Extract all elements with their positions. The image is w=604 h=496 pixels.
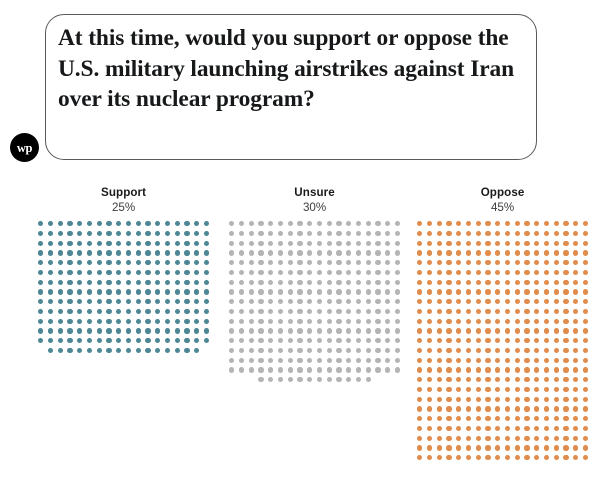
dot [395,319,400,324]
dot [544,445,549,450]
dot [249,289,254,294]
dot [427,221,432,226]
dot [515,231,520,236]
dot [356,289,361,294]
dot [239,221,244,226]
dot [194,270,199,275]
dot [194,280,199,285]
dot [116,241,121,246]
dot [417,455,422,460]
dot [48,280,53,285]
dot [278,260,283,265]
dot [204,338,209,343]
dot [583,348,588,353]
dot [67,299,72,304]
dot [346,309,351,314]
dot [249,328,254,333]
dot [495,241,500,246]
dot [346,231,351,236]
dot [126,309,131,314]
dot [116,280,121,285]
dot [336,270,341,275]
dot [48,348,53,353]
dot [385,221,390,226]
dot [395,328,400,333]
dot [165,319,170,324]
dot [155,299,160,304]
dot [126,289,131,294]
dot [417,338,422,343]
dot [268,299,273,304]
dot [268,348,273,353]
dot [534,299,539,304]
dot [427,387,432,392]
dot [126,299,131,304]
dot [126,270,131,275]
dot [385,280,390,285]
dot [456,299,461,304]
dot [229,289,234,294]
dot [583,416,588,421]
dot [184,280,189,285]
dot [505,289,510,294]
dot [485,289,490,294]
dot [456,289,461,294]
dot [268,270,273,275]
dot [524,309,529,314]
dot [573,397,578,402]
dot [476,445,481,450]
dot [184,299,189,304]
dot [515,328,520,333]
dot [48,289,53,294]
dot [583,231,588,236]
dot [427,260,432,265]
dot [38,270,43,275]
dot [476,250,481,255]
dot [515,250,520,255]
dot [175,241,180,246]
dot [175,338,180,343]
dot [268,231,273,236]
dot [346,280,351,285]
dot [106,280,111,285]
dot [346,338,351,343]
dot [366,309,371,314]
dot [204,270,209,275]
dot [505,416,510,421]
dot [476,328,481,333]
dot [395,221,400,226]
dot [317,221,322,226]
column-oppose: Oppose45% [417,186,588,460]
dot [427,299,432,304]
dot [524,221,529,226]
dot [87,250,92,255]
dot [563,416,568,421]
dot [573,358,578,363]
dot [446,231,451,236]
dot [184,241,189,246]
dot [327,289,332,294]
dot [288,289,293,294]
dot [544,241,549,246]
dot [136,250,141,255]
dot [395,299,400,304]
dot [297,328,302,333]
dot [485,299,490,304]
dot [534,358,539,363]
dot [485,436,490,441]
dot [524,406,529,411]
dot [456,260,461,265]
dot [563,221,568,226]
dot [346,367,351,372]
dot [204,328,209,333]
dot [297,319,302,324]
column-header-support: Support25% [38,186,209,215]
dot [67,260,72,265]
dot [297,358,302,363]
dot [249,231,254,236]
dot [505,280,510,285]
dot [515,358,520,363]
dot [505,436,510,441]
dot [67,270,72,275]
dot [136,299,141,304]
dot [87,299,92,304]
dot [204,221,209,226]
dot [395,250,400,255]
dot [544,455,549,460]
dot [563,455,568,460]
dot [356,377,361,382]
dot [466,309,471,314]
dot [116,260,121,265]
dot [375,328,380,333]
dot [534,436,539,441]
dot [437,280,442,285]
dot [249,241,254,246]
dot [175,328,180,333]
dot [194,241,199,246]
dot [544,250,549,255]
dot [417,319,422,324]
dot [204,289,209,294]
dot [515,319,520,324]
dot [87,260,92,265]
dot [437,299,442,304]
dot [327,270,332,275]
dot [515,436,520,441]
dot [366,260,371,265]
dot [38,319,43,324]
dot [327,260,332,265]
dot [307,367,312,372]
dot [336,319,341,324]
dot [106,309,111,314]
dot [327,221,332,226]
dot [229,231,234,236]
dot [278,289,283,294]
dot [336,358,341,363]
dot [106,221,111,226]
dot [446,348,451,353]
dot [48,221,53,226]
dot [77,348,82,353]
dot [427,348,432,353]
dot [97,338,102,343]
dot [524,377,529,382]
dot [485,387,490,392]
dot [327,250,332,255]
dot [67,221,72,226]
dot [155,338,160,343]
dot [446,436,451,441]
dot [194,319,199,324]
dot [437,367,442,372]
dot [288,270,293,275]
dot [77,280,82,285]
dot [446,367,451,372]
dot [366,367,371,372]
dot [563,377,568,382]
dot [395,338,400,343]
dot [417,270,422,275]
dot [515,397,520,402]
dot [534,406,539,411]
dot [336,280,341,285]
dot [175,231,180,236]
dot [58,280,63,285]
dot [466,397,471,402]
dot [505,250,510,255]
dot [437,416,442,421]
dot [524,250,529,255]
dot [356,280,361,285]
dot [106,299,111,304]
dot [77,260,82,265]
dot [476,416,481,421]
dot [297,367,302,372]
dot [495,309,500,314]
dot [485,348,490,353]
dot [136,231,141,236]
dot [136,319,141,324]
dot [456,328,461,333]
dot [515,338,520,343]
dot [268,221,273,226]
dot [375,250,380,255]
dot [417,260,422,265]
dot [437,397,442,402]
dot [583,270,588,275]
dot [229,241,234,246]
dot [437,436,442,441]
dot [239,299,244,304]
dot [288,348,293,353]
dot [573,416,578,421]
dot [515,348,520,353]
dot [466,299,471,304]
dot [165,221,170,226]
dot [456,250,461,255]
dot [495,338,500,343]
dot [356,348,361,353]
dot [116,319,121,324]
dot [427,250,432,255]
dot [136,280,141,285]
dot [446,397,451,402]
dot [573,455,578,460]
dot [427,445,432,450]
dot [288,221,293,226]
dot [48,319,53,324]
dot [446,416,451,421]
dot [58,221,63,226]
dot [258,328,263,333]
dot [456,445,461,450]
dot [194,250,199,255]
washington-post-logo-text: wp [17,142,32,155]
dot [97,309,102,314]
dot [573,445,578,450]
dot [456,358,461,363]
dot [485,309,490,314]
dot [427,397,432,402]
dot [544,387,549,392]
dot [97,299,102,304]
dot [505,270,510,275]
dot [544,338,549,343]
dot [307,221,312,226]
dot [563,426,568,431]
dot [366,241,371,246]
dot [77,319,82,324]
dot [446,426,451,431]
dot [336,241,341,246]
dot [583,319,588,324]
dot [554,250,559,255]
dot [437,406,442,411]
dot [446,309,451,314]
dot [375,348,380,353]
dot [375,231,380,236]
dot [427,231,432,236]
dot [446,328,451,333]
dot [485,406,490,411]
dot [336,260,341,265]
dot [563,445,568,450]
dot [385,289,390,294]
dot [544,221,549,226]
dot [229,299,234,304]
dot [175,319,180,324]
dot [563,270,568,275]
dot [327,309,332,314]
dot [466,416,471,421]
dot [327,280,332,285]
dot [288,250,293,255]
dot [307,280,312,285]
dot [563,231,568,236]
dot [204,280,209,285]
dot [554,367,559,372]
dot [116,221,121,226]
dot [554,377,559,382]
dot [268,289,273,294]
dot [48,338,53,343]
dot [58,231,63,236]
dot [446,241,451,246]
dot [297,377,302,382]
dot [175,289,180,294]
dot [554,338,559,343]
dot [145,338,150,343]
dot [229,338,234,343]
dot [515,309,520,314]
dot [194,260,199,265]
dot [249,270,254,275]
dot [505,231,510,236]
dot [249,221,254,226]
dot [356,367,361,372]
dot [456,241,461,246]
dot [446,387,451,392]
dot [534,348,539,353]
dot [97,289,102,294]
dot [346,250,351,255]
dot [427,241,432,246]
dot [524,455,529,460]
dot [534,338,539,343]
dot [77,221,82,226]
dot [288,231,293,236]
dot [446,455,451,460]
dot [268,260,273,265]
dot [366,231,371,236]
dot [184,328,189,333]
dot [563,250,568,255]
dot [307,231,312,236]
dot [544,270,549,275]
dot [544,260,549,265]
dot [437,338,442,343]
dot [258,241,263,246]
dot [427,280,432,285]
dot [307,319,312,324]
dot [456,397,461,402]
dot [466,289,471,294]
dot [375,289,380,294]
dot [524,328,529,333]
dot [67,319,72,324]
dot [67,241,72,246]
dot [505,387,510,392]
dot [573,387,578,392]
dot [97,270,102,275]
dot [583,299,588,304]
column-value-support: 25% [38,200,209,215]
dot [258,319,263,324]
dot [307,299,312,304]
dot [366,319,371,324]
dot [126,319,131,324]
dot [165,231,170,236]
dot [385,299,390,304]
dot [48,309,53,314]
dot [417,406,422,411]
